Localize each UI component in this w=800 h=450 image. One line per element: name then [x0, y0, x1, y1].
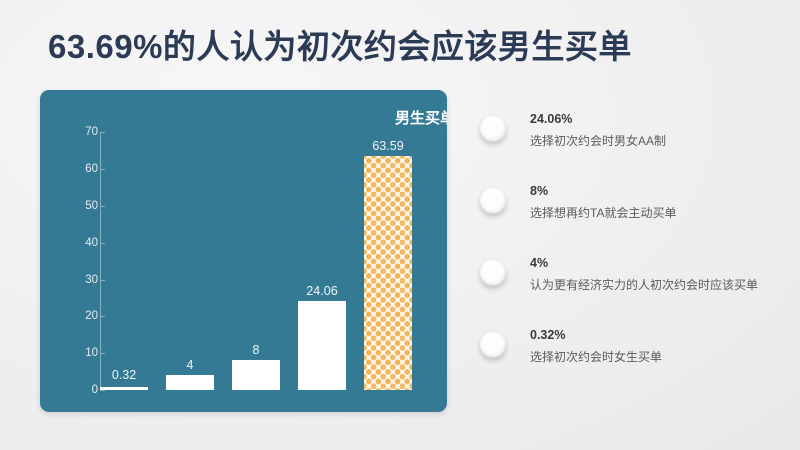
legend-percent: 4% [530, 256, 788, 271]
page-title: 63.69%的人认为初次约会应该男生买单 [48, 28, 632, 66]
list-item[interactable]: 4% 认为更有经济实力的人初次约会时应该买单 [478, 256, 788, 310]
bullet-sphere-icon [480, 188, 506, 214]
slide-canvas: 63.69%的人认为初次约会应该男生买单 男生买单 0 10 20 30 40 … [0, 0, 800, 450]
y-axis-label-30: 30 [58, 274, 98, 286]
bar-2 [232, 360, 280, 390]
y-axis-line [100, 132, 101, 390]
legend-percent: 24.06% [530, 112, 788, 127]
y-axis-label-20: 20 [58, 310, 98, 322]
list-item[interactable]: 0.32% 选择初次约会时女生买单 [478, 328, 788, 382]
legend-description: 选择想再约TA就会主动买单 [530, 206, 788, 222]
legend-description: 选择初次约会时女生买单 [530, 350, 788, 366]
bullet-sphere-icon [480, 332, 506, 358]
y-axis-tick [100, 206, 105, 207]
bar-3 [298, 301, 346, 390]
chart-panel: 男生买单 0 10 20 30 40 50 60 70 0.32 4 [40, 90, 447, 412]
y-axis-tick [100, 243, 105, 244]
y-axis-label-10: 10 [58, 347, 98, 359]
y-axis-label-0: 0 [58, 384, 98, 396]
y-axis-tick [100, 316, 105, 317]
bar-value-2: 8 [216, 343, 296, 357]
bar-chart-plot: 0 10 20 30 40 50 60 70 0.32 4 8 24.06 63… [40, 90, 447, 412]
bar-value-3: 24.06 [282, 284, 362, 298]
bar-value-1: 4 [150, 358, 230, 372]
y-axis-tick [100, 353, 105, 354]
y-axis-label-50: 50 [58, 200, 98, 212]
bar-0 [100, 387, 148, 390]
y-axis-label-40: 40 [58, 237, 98, 249]
y-axis-tick [100, 390, 105, 391]
bar-value-4: 63.59 [348, 139, 428, 153]
bullet-sphere-icon [480, 260, 506, 286]
list-item[interactable]: 24.06% 选择初次约会时男女AA制 [478, 112, 788, 166]
bar-4-highlight [364, 156, 412, 390]
y-axis-label-60: 60 [58, 163, 98, 175]
y-axis-tick [100, 280, 105, 281]
bar-1 [166, 375, 214, 390]
legend-description: 选择初次约会时男女AA制 [530, 134, 788, 150]
legend-percent: 0.32% [530, 328, 788, 343]
list-item[interactable]: 8% 选择想再约TA就会主动买单 [478, 184, 788, 238]
bullet-sphere-icon [480, 116, 506, 142]
legend-percent: 8% [530, 184, 788, 199]
y-axis-tick [100, 169, 105, 170]
legend-list: 24.06% 选择初次约会时男女AA制 8% 选择想再约TA就会主动买单 4% … [478, 112, 788, 400]
legend-description: 认为更有经济实力的人初次约会时应该买单 [530, 278, 788, 294]
y-axis-tick [100, 132, 105, 133]
y-axis-label-70: 70 [58, 126, 98, 138]
